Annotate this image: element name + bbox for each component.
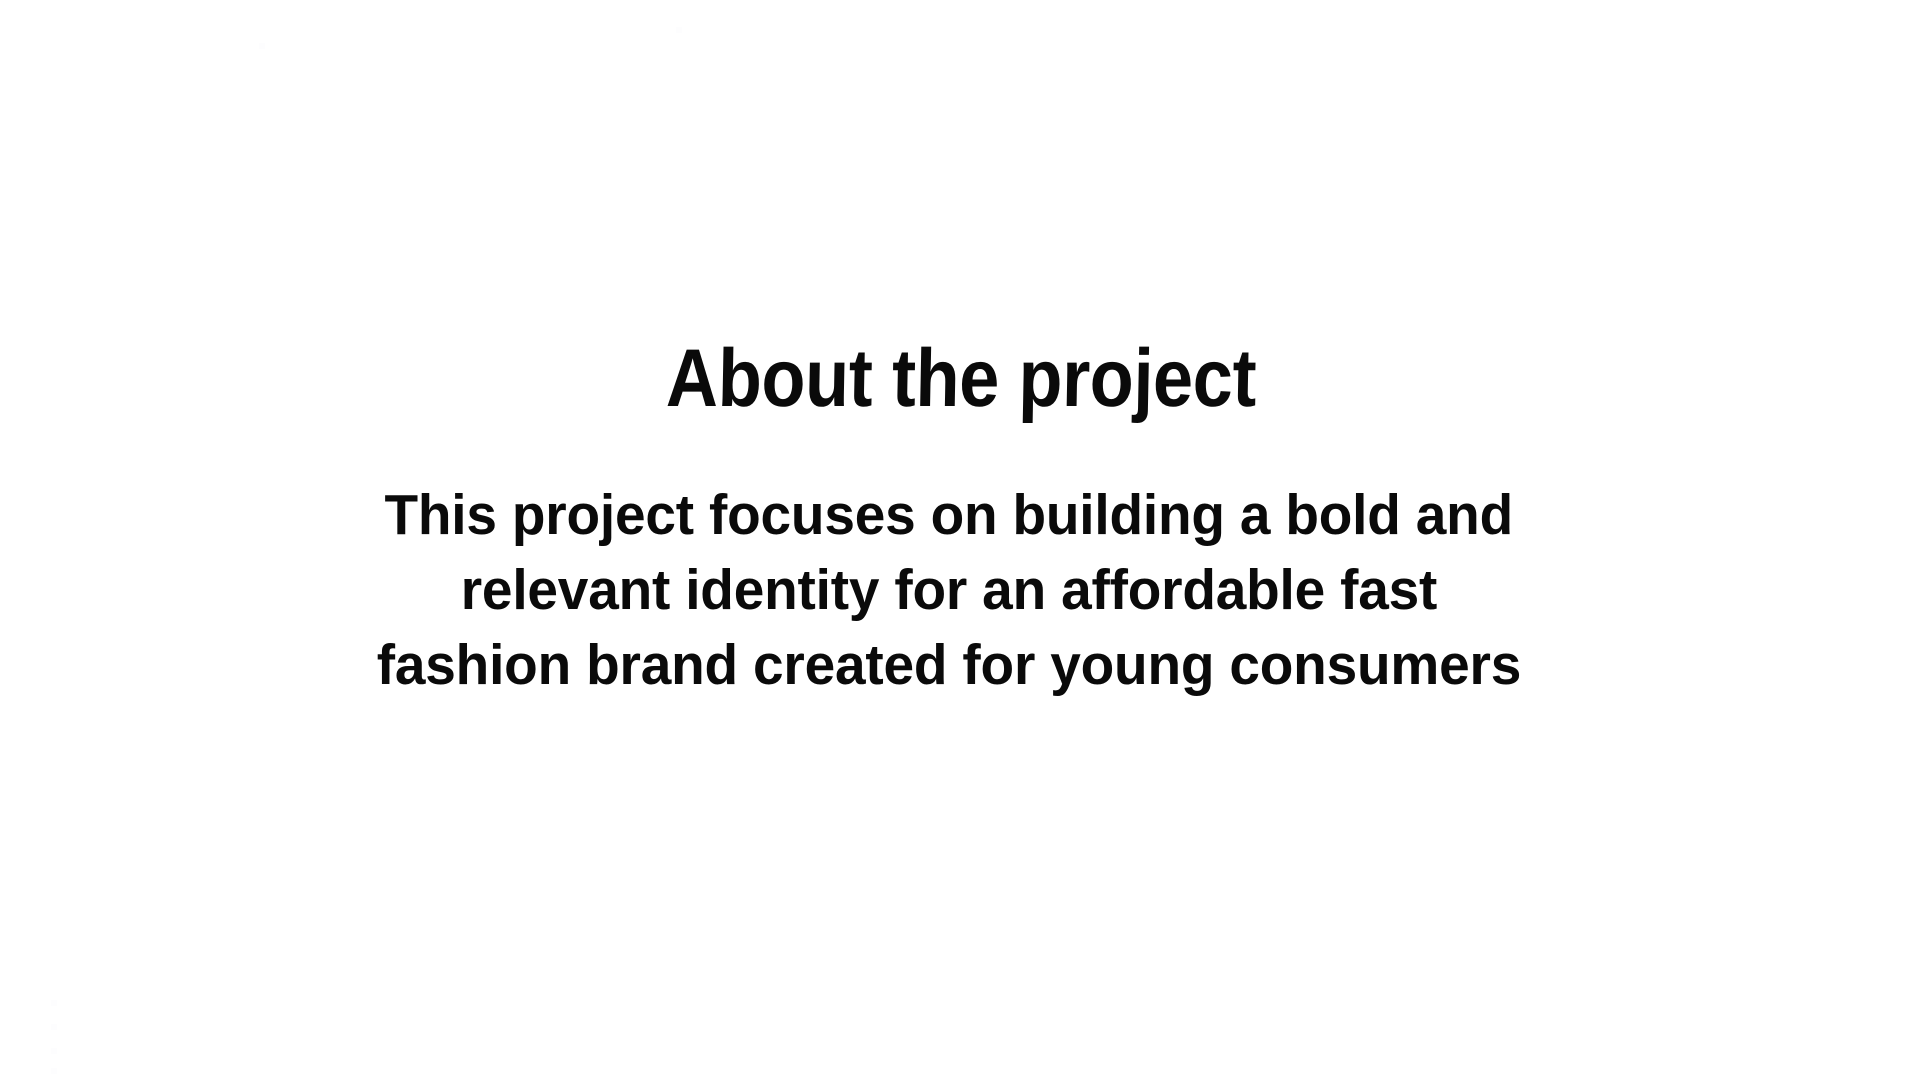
body-line-2-text: relevant identity for an affordable fast [461, 553, 1437, 628]
presentation-slide: About the project This project focuses o… [0, 0, 1920, 1080]
page-title: About the project [211, 338, 1711, 420]
body-line-2: relevant identity for an affordable fast [209, 553, 1689, 628]
body-line-3: fashion brand created for young consumer… [209, 628, 1689, 703]
page-title-text: About the project [665, 338, 1256, 420]
slide-content-block: About the project This project focuses o… [0, 0, 1920, 1080]
slide-body-paragraph: This project focuses on building a bold … [209, 478, 1689, 703]
body-line-1: This project focuses on building a bold … [209, 478, 1689, 553]
body-line-3-text: fashion brand created for young consumer… [377, 628, 1521, 703]
body-line-1-text: This project focuses on building a bold … [385, 478, 1514, 553]
